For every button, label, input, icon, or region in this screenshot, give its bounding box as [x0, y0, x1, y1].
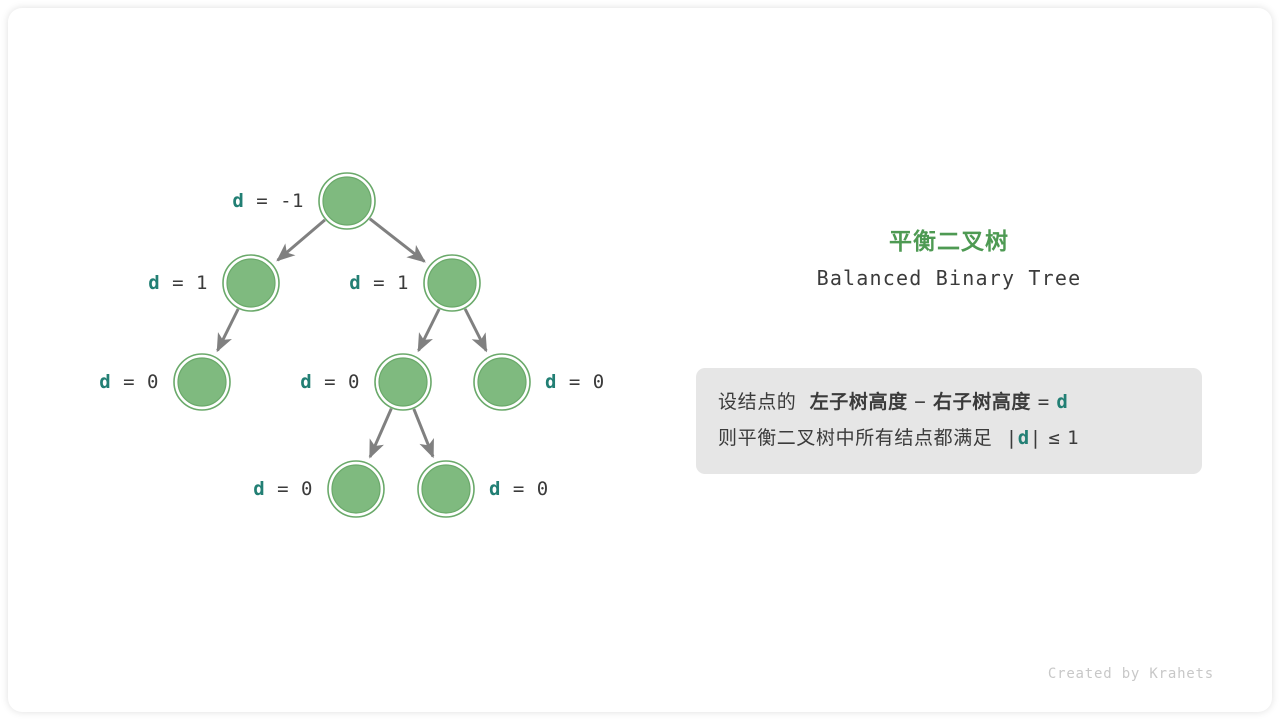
formula-term-right-height: 右子树高度 [933, 391, 1031, 413]
panel-title-block: 平衡二叉树 Balanced Binary Tree [696, 226, 1202, 293]
node-label-variable: d [300, 371, 312, 393]
credit-text: Created by Krahets [1048, 666, 1214, 682]
tree-edge [419, 309, 440, 351]
tree-node [328, 461, 384, 517]
page-subtitle: Balanced Binary Tree [696, 263, 1202, 293]
node-circle [428, 259, 476, 307]
tree-edge [278, 220, 325, 260]
node-circle [323, 177, 371, 225]
node-circle [422, 465, 470, 513]
formula-term-left-height: 左子树高度 [810, 391, 908, 413]
binary-tree-graphic [0, 0, 1280, 720]
tree-edge [414, 409, 433, 457]
formula-relation-sign: ≤ [1048, 427, 1060, 449]
node-label-value: = 1 [160, 272, 208, 294]
formula-equals-sign: = [1038, 391, 1050, 413]
node-circle [379, 358, 427, 406]
node-label-variable: d [545, 371, 557, 393]
node-balance-label: d = 1 [148, 272, 208, 294]
tree-nodes [174, 173, 530, 517]
formula-abs-variable: d [1018, 427, 1030, 449]
node-label-value: = 0 [557, 371, 605, 393]
node-label-value: = 0 [312, 371, 360, 393]
tree-edge [465, 309, 486, 351]
node-circle [178, 358, 226, 406]
node-balance-label: d = 0 [300, 371, 360, 393]
node-circle [227, 259, 275, 307]
node-balance-label: d = 0 [545, 371, 605, 393]
node-label-value: = 0 [265, 478, 313, 500]
tree-node [174, 354, 230, 410]
node-label-value: = 0 [501, 478, 549, 500]
tree-node [223, 255, 279, 311]
node-label-variable: d [349, 272, 361, 294]
tree-edge [370, 219, 425, 262]
tree-edge [218, 309, 239, 351]
node-circle [478, 358, 526, 406]
tree-node [424, 255, 480, 311]
node-balance-label: d = 1 [349, 272, 409, 294]
tree-edge [370, 409, 391, 457]
node-label-value: = -1 [244, 190, 304, 212]
formula-line-2: 则平衡二叉树中所有结点都满足 |d| ≤ 1 [718, 420, 1180, 456]
abs-bar-open: | [1006, 427, 1018, 449]
formula-prefix-2: 则平衡二叉树中所有结点都满足 [718, 427, 992, 449]
node-label-variable: d [232, 190, 244, 212]
diagram-page: d = -1d = 1d = 1d = 0d = 0d = 0d = 0d = … [0, 0, 1280, 720]
node-label-variable: d [253, 478, 265, 500]
formula-result-variable: d [1056, 391, 1068, 413]
node-balance-label: d = 0 [489, 478, 549, 500]
node-balance-label: d = 0 [99, 371, 159, 393]
tree-node [375, 354, 431, 410]
formula-prefix-1: 设结点的 [718, 391, 796, 413]
node-label-variable: d [148, 272, 160, 294]
node-label-value: = 0 [111, 371, 159, 393]
tree-node [474, 354, 530, 410]
node-balance-label: d = -1 [232, 190, 304, 212]
node-circle [332, 465, 380, 513]
formula-line-1: 设结点的 左子树高度 − 右子树高度 = d [718, 384, 1180, 420]
node-balance-label: d = 0 [253, 478, 313, 500]
node-label-variable: d [489, 478, 501, 500]
tree-node [319, 173, 375, 229]
formula-box: 设结点的 左子树高度 − 右子树高度 = d 则平衡二叉树中所有结点都满足 |d… [696, 368, 1202, 474]
tree-edges [218, 219, 487, 457]
abs-bar-close: | [1030, 427, 1042, 449]
node-label-value: = 1 [361, 272, 409, 294]
tree-node [418, 461, 474, 517]
formula-minus-operator: − [914, 391, 926, 413]
page-title: 平衡二叉树 [696, 226, 1202, 258]
formula-bound-value: 1 [1067, 427, 1079, 449]
node-label-variable: d [99, 371, 111, 393]
